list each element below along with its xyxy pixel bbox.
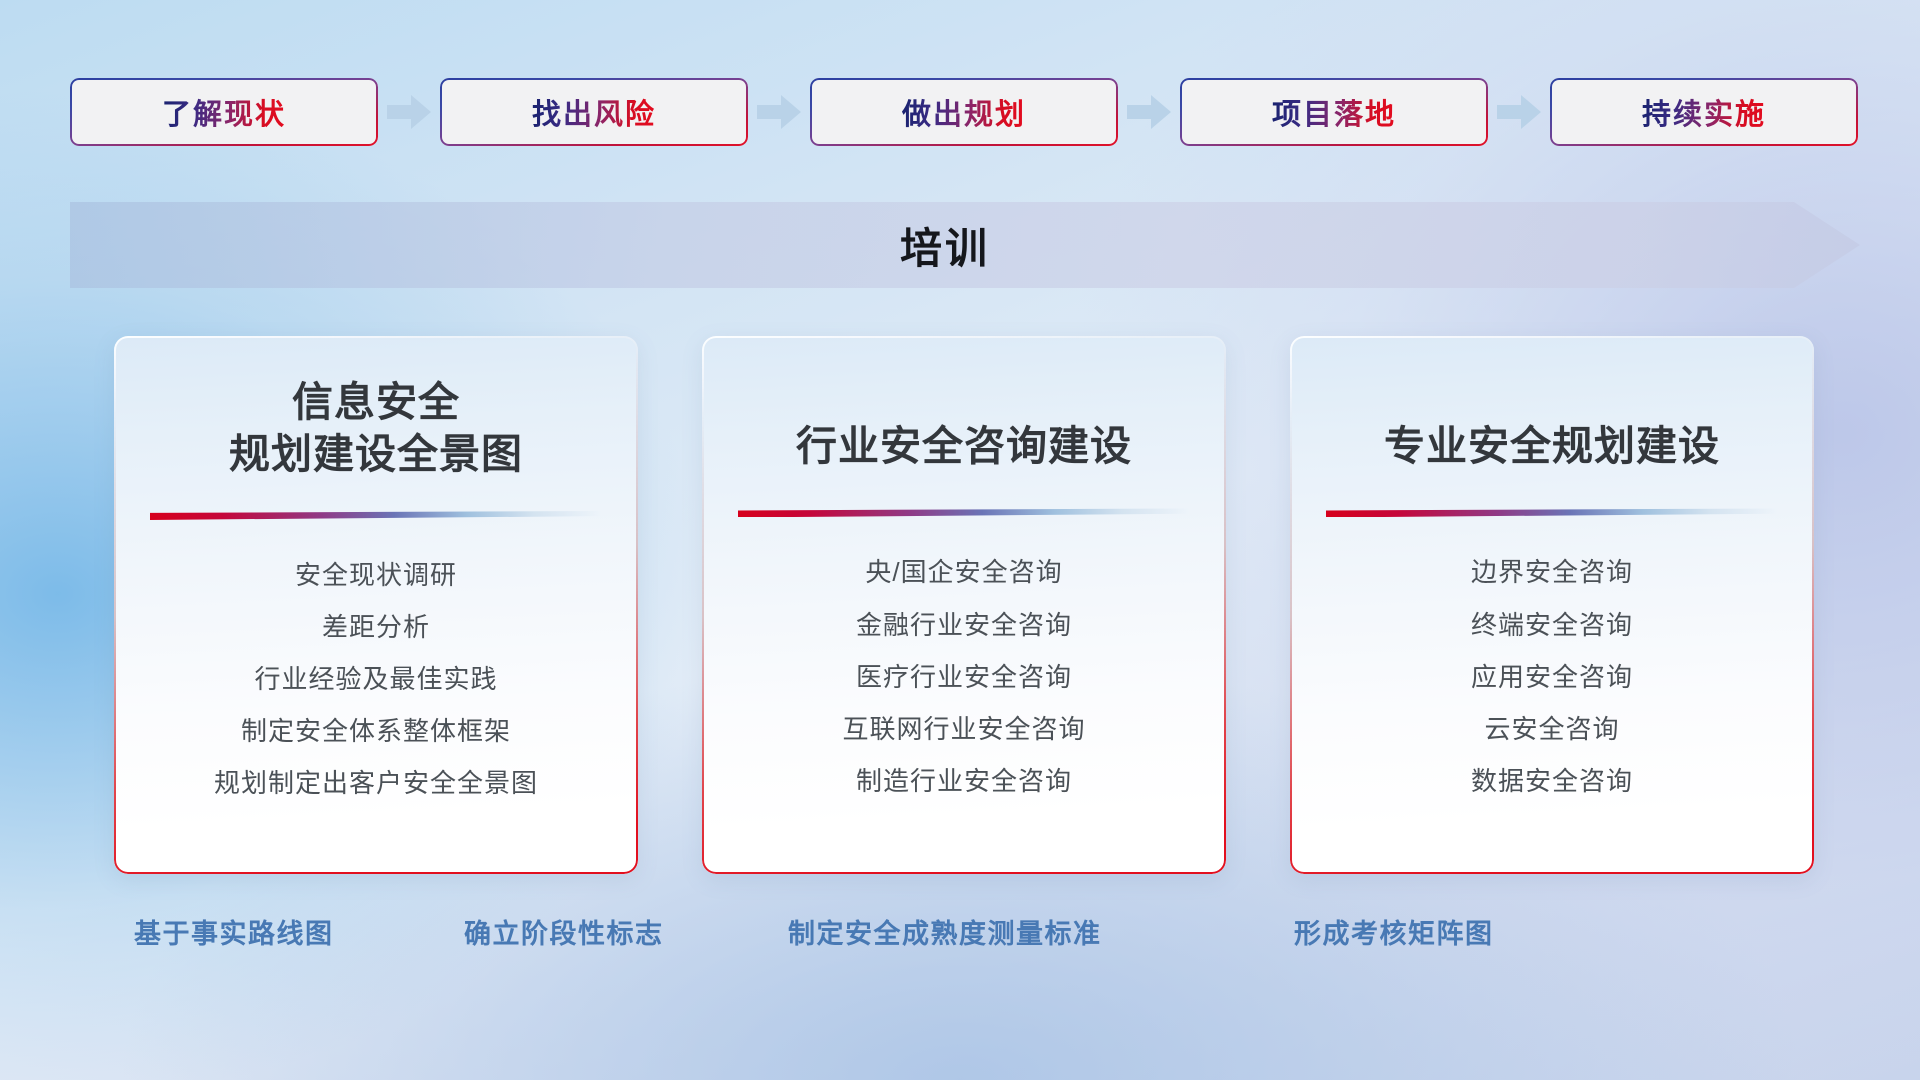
list-item: 互联网行业安全咨询 [842,708,1085,750]
step-label: 项目落地 [1272,91,1396,133]
list-item: 制定安全体系整体框架 [241,710,511,752]
list-item: 云安全咨询 [1484,708,1619,750]
step-label: 了解现状 [162,91,286,133]
step-box-1[interactable]: 了解现状 [70,78,378,146]
list-item: 边界安全咨询 [1471,551,1633,593]
caption-roadmap: 基于事实路线图 [134,912,334,951]
card-item-list: 央/国企安全咨询 金融行业安全咨询 医疗行业安全咨询 互联网行业安全咨询 制造行… [842,551,1085,802]
list-item: 应用安全咨询 [1471,656,1633,698]
process-steps-row: 了解现状 找出风险 做出规划 项目落地 持续实施 [70,78,1854,146]
card-item-list: 边界安全咨询 终端安全咨询 应用安全咨询 云安全咨询 数据安全咨询 [1471,551,1633,802]
card-industry-security-consulting[interactable]: 行业安全咨询建设 央/国企安全咨询 金融行业安全咨询 医疗行业安全咨询 互联网行… [702,336,1226,874]
list-item: 央/国企安全咨询 [865,551,1062,593]
list-item: 终端安全咨询 [1471,604,1633,646]
step-box-2[interactable]: 找出风险 [440,78,748,146]
step-box-5[interactable]: 持续实施 [1550,78,1858,146]
list-item: 医疗行业安全咨询 [856,656,1072,698]
caption-maturity-standard: 制定安全成熟度测量标准 [788,912,1102,951]
step-arrow-icon-4 [1488,78,1550,146]
card-information-security-panorama[interactable]: 信息安全 规划建设全景图 安全现状调研 差距分析 行业经验及最佳实践 制定安全体… [114,336,638,874]
list-item: 金融行业安全咨询 [856,604,1072,646]
list-item: 规划制定出客户安全全景图 [214,762,538,804]
list-item: 行业经验及最佳实践 [254,658,497,700]
step-label: 持续实施 [1642,91,1766,133]
step-arrow-icon-3 [1118,78,1180,146]
card-divider [1326,508,1778,517]
list-item: 制造行业安全咨询 [856,760,1072,802]
card-divider [738,508,1190,517]
card-title: 信息安全 规划建设全景图 [229,376,523,481]
list-item: 差距分析 [322,606,430,648]
card-title: 专业安全规划建设 [1384,420,1720,472]
step-box-4[interactable]: 项目落地 [1180,78,1488,146]
step-arrow-icon-1 [378,78,440,146]
caption-assessment-matrix: 形成考核矩阵图 [1294,912,1494,951]
step-label: 做出规划 [902,91,1026,133]
card-professional-security-planning[interactable]: 专业安全规划建设 边界安全咨询 终端安全咨询 应用安全咨询 云安全咨询 数据安全… [1290,336,1814,874]
bottom-captions: 基于事实路线图 确立阶段性标志 制定安全成熟度测量标准 形成考核矩阵图 [0,912,1920,958]
card-item-list: 安全现状调研 差距分析 行业经验及最佳实践 制定安全体系整体框架 规划制定出客户… [214,554,538,805]
training-banner: 培训 [70,202,1860,288]
cards-row: 信息安全 规划建设全景图 安全现状调研 差距分析 行业经验及最佳实践 制定安全体… [114,336,1814,874]
list-item: 安全现状调研 [295,554,457,596]
step-arrow-icon-2 [748,78,810,146]
caption-milestones: 确立阶段性标志 [464,912,664,951]
step-box-3[interactable]: 做出规划 [810,78,1118,146]
step-label: 找出风险 [532,91,656,133]
card-title: 行业安全咨询建设 [796,420,1132,472]
list-item: 数据安全咨询 [1471,760,1633,802]
banner-title: 培训 [70,202,1860,288]
card-divider [150,511,602,520]
